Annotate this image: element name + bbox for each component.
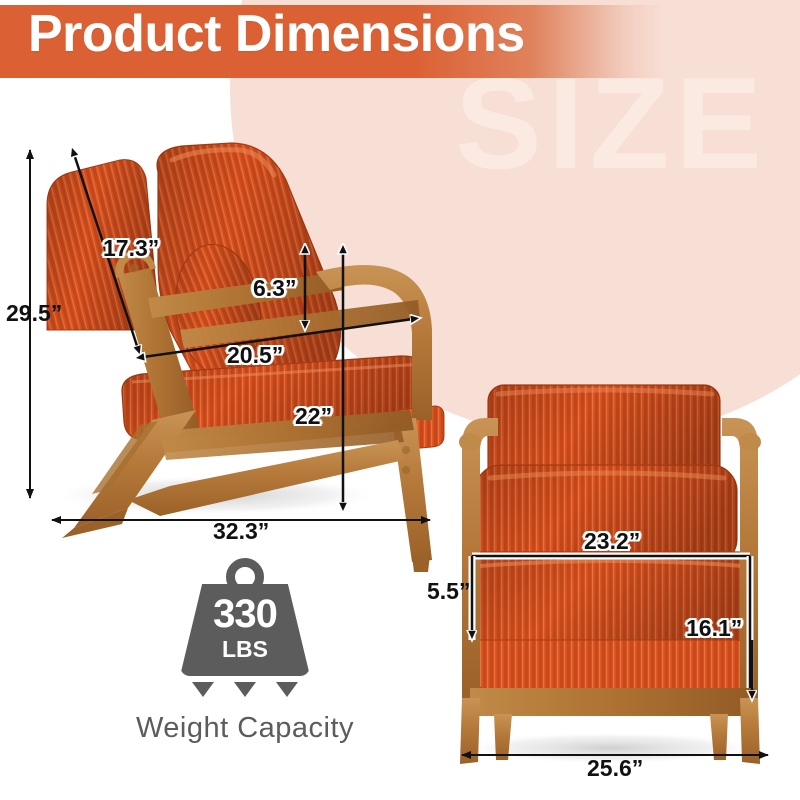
down-triangle-icon bbox=[192, 682, 214, 697]
dim-label-seat-width: 23.2” bbox=[584, 528, 640, 555]
weight-capacity-block: 330 LBS Weight Capacity bbox=[110, 558, 380, 745]
dim-label-overall-width: 25.6” bbox=[587, 755, 643, 782]
weight-down-arrows bbox=[175, 682, 315, 697]
down-triangle-icon bbox=[276, 682, 298, 697]
dim-label-armrest-to-seat: 6.3” bbox=[253, 275, 296, 302]
dim-label-armrest-height: 22” bbox=[295, 403, 332, 430]
dim-label-seat-height: 16.1” bbox=[686, 615, 742, 642]
dimline-seat-height bbox=[750, 556, 752, 700]
weight-capacity-unit: LBS bbox=[175, 638, 315, 661]
infographic-canvas: SIZE Product Dimensions bbox=[0, 0, 800, 800]
dim-label-cushion-thickness: 5.5” bbox=[427, 578, 470, 605]
dim-label-backrest-height: 17.3” bbox=[103, 235, 159, 262]
weight-icon: 330 LBS bbox=[175, 558, 315, 698]
weight-capacity-label: Weight Capacity bbox=[110, 712, 380, 745]
weight-capacity-number: 330 bbox=[175, 594, 315, 634]
dim-label-overall-depth: 32.3” bbox=[213, 518, 269, 545]
down-triangle-icon bbox=[234, 682, 256, 697]
dim-label-seat-depth: 20.5” bbox=[227, 342, 283, 369]
dim-label-overall-height: 29.5” bbox=[6, 300, 62, 327]
